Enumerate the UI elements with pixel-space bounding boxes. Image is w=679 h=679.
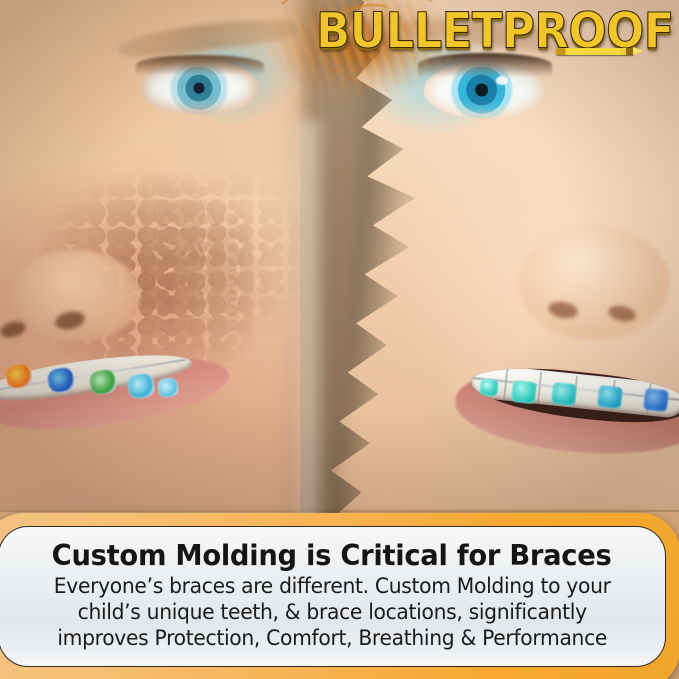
panel-body-line-2: child’s unique teeth, & brace locations,…: [54, 600, 611, 626]
panel-body-line-3: improves Protection, Comfort, Breathing …: [54, 626, 611, 652]
message-panel-body: Custom Molding is Critical for Braces Ev…: [0, 526, 666, 667]
right-bracket-1: [479, 378, 499, 397]
right-bracket-5: [643, 388, 669, 412]
panel-body-line-1: Everyone’s braces are different. Custom …: [54, 574, 611, 600]
right-nose: [520, 225, 670, 340]
right-bracket-4: [597, 385, 623, 409]
left-eye: [140, 60, 258, 114]
brand-logo: BULLETPROOF: [322, 6, 674, 58]
product-infographic: BULLETPROOF Custom Molding is Critical f…: [0, 0, 679, 679]
divider-highlight: [292, 120, 326, 540]
pencil-bullet-icon: [556, 48, 634, 55]
right-bracket-2: [511, 380, 537, 404]
message-panel: Custom Molding is Critical for Braces Ev…: [0, 513, 679, 679]
panel-body-copy: Everyone’s braces are different. Custom …: [54, 574, 611, 652]
right-bracket-3: [551, 382, 577, 406]
panel-headline: Custom Molding is Critical for Braces: [52, 539, 612, 573]
